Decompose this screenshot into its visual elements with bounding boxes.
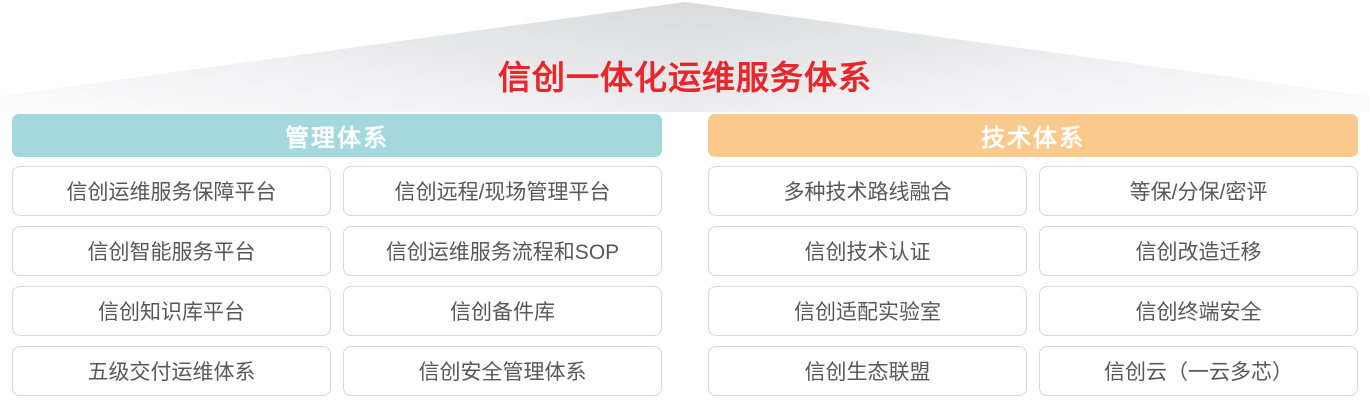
roof-banner: 信创一体化运维服务体系 [0, 0, 1370, 112]
list-item[interactable]: 信创适配实验室 [708, 286, 1027, 336]
list-item[interactable]: 信创云（一云多芯） [1039, 346, 1358, 396]
list-item[interactable]: 信创生态联盟 [708, 346, 1027, 396]
infographic-page: 信创一体化运维服务体系 管理体系 信创运维服务保障平台 信创远程/现场管理平台 … [0, 0, 1370, 418]
management-system-header: 管理体系 [12, 114, 662, 157]
list-item[interactable]: 信创知识库平台 [12, 286, 331, 336]
list-item[interactable]: 信创智能服务平台 [12, 226, 331, 276]
list-item[interactable]: 信创远程/现场管理平台 [343, 166, 662, 216]
technology-system-grid: 多种技术路线融合 等保/分保/密评 信创技术认证 信创改造迁移 信创适配实验室 … [708, 166, 1358, 396]
list-item[interactable]: 信创运维服务流程和SOP [343, 226, 662, 276]
management-system-group: 管理体系 信创运维服务保障平台 信创远程/现场管理平台 信创智能服务平台 信创运… [12, 114, 662, 418]
technology-system-header: 技术体系 [708, 114, 1358, 157]
list-item[interactable]: 信创技术认证 [708, 226, 1027, 276]
list-item[interactable]: 信创改造迁移 [1039, 226, 1358, 276]
systems-columns: 管理体系 信创运维服务保障平台 信创远程/现场管理平台 信创智能服务平台 信创运… [0, 114, 1370, 418]
list-item[interactable]: 五级交付运维体系 [12, 346, 331, 396]
list-item[interactable]: 信创安全管理体系 [343, 346, 662, 396]
list-item[interactable]: 信创终端安全 [1039, 286, 1358, 336]
technology-system-group: 技术体系 多种技术路线融合 等保/分保/密评 信创技术认证 信创改造迁移 信创适… [708, 114, 1358, 418]
list-item[interactable]: 多种技术路线融合 [708, 166, 1027, 216]
page-title: 信创一体化运维服务体系 [0, 56, 1370, 100]
management-system-grid: 信创运维服务保障平台 信创远程/现场管理平台 信创智能服务平台 信创运维服务流程… [12, 166, 662, 396]
list-item[interactable]: 信创运维服务保障平台 [12, 166, 331, 216]
list-item[interactable]: 等保/分保/密评 [1039, 166, 1358, 216]
list-item[interactable]: 信创备件库 [343, 286, 662, 336]
